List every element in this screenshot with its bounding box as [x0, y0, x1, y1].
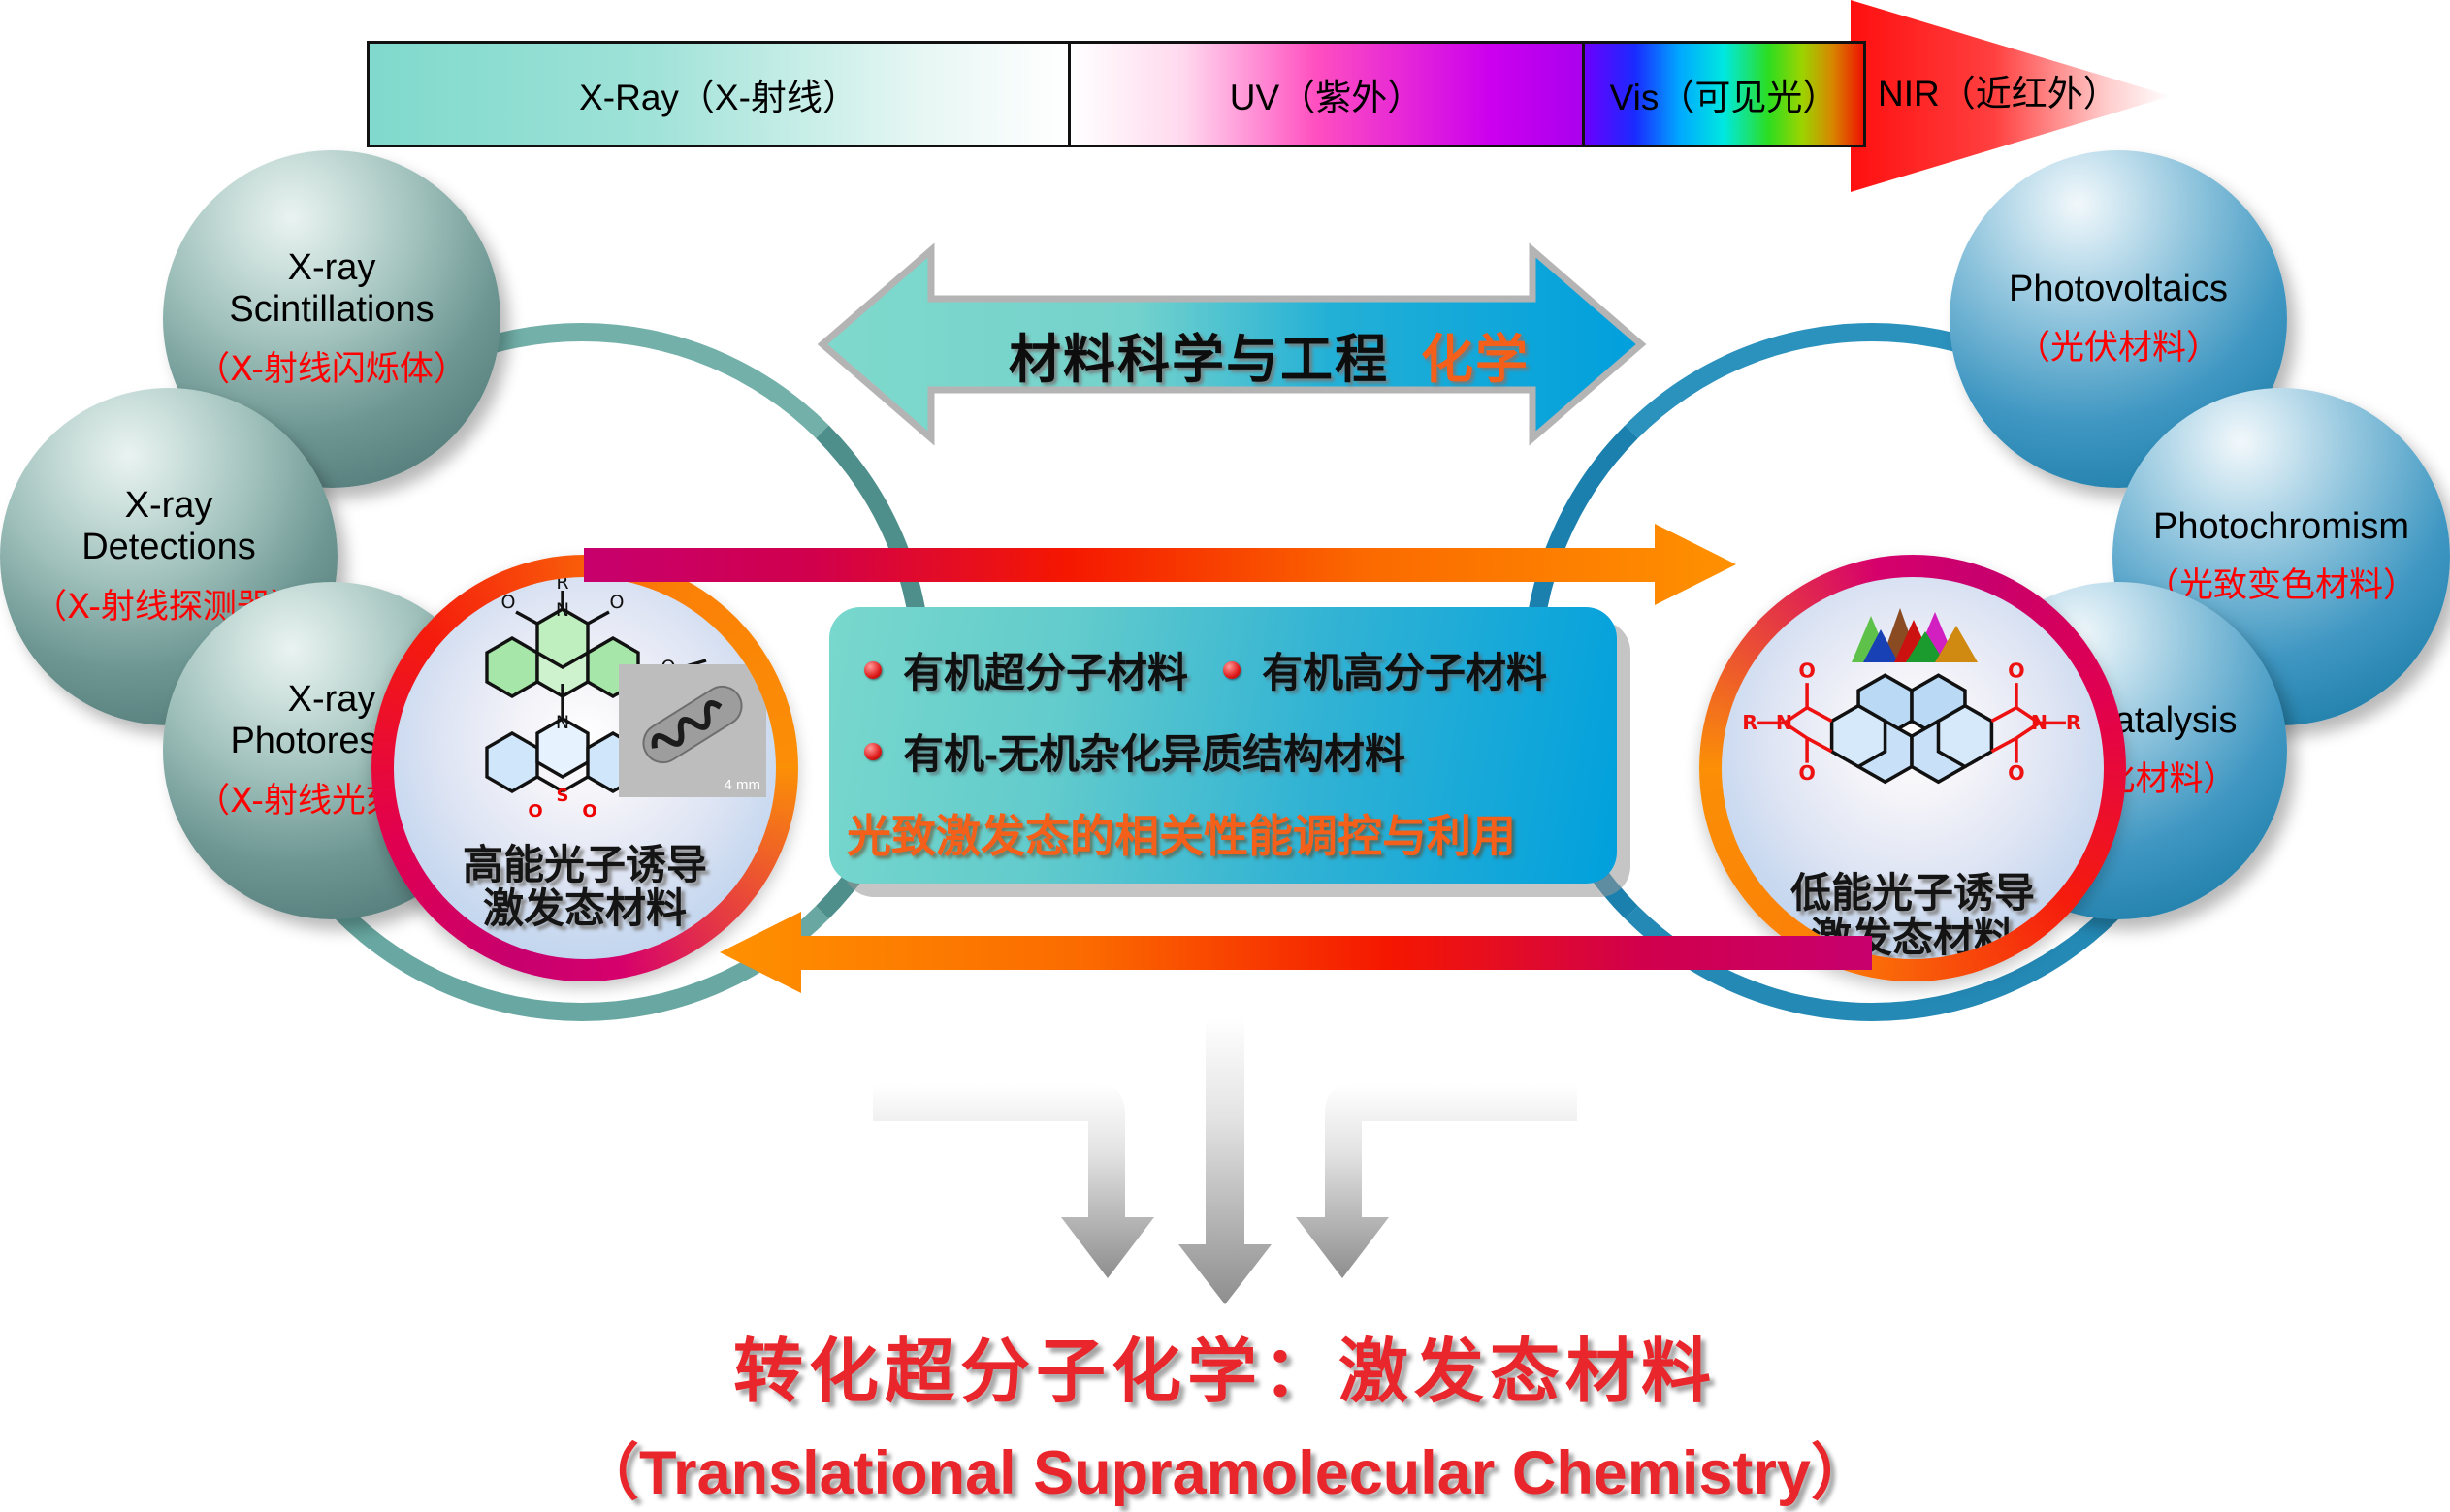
mol-label-O-sulfone-left: O	[528, 801, 542, 821]
node-label-en-line1: X-ray	[288, 247, 376, 289]
bottom-title-block: 转化超分子化学：激发态材料 （Translational Supramolecu…	[0, 1314, 2450, 1512]
spectrum-label-xray: X-Ray（X-射线）	[579, 68, 858, 120]
mol-label-N-top: N	[556, 599, 569, 621]
node-label-en-line2: Scintillations	[229, 289, 434, 331]
feature-caption-left-line1: 高能光子诱导	[463, 843, 707, 886]
mol-label-O-br: O	[2008, 761, 2025, 785]
spectrum-segment-vis: Vis（可见光）	[1582, 44, 1863, 145]
spectrum-bar: X-Ray（X-射线） UV（紫外） Vis（可见光）	[367, 41, 1866, 147]
mol-label-O-bl: O	[1798, 761, 1816, 785]
mol-label-O-left: O	[501, 592, 516, 613]
spectrum-label-nir: NIR（近红外）	[1878, 64, 2119, 116]
feature-high-energy-photon[interactable]: R N O O N O S O O 4 mm 高能光子	[371, 555, 798, 981]
inset-scale-label: 4 mm	[725, 777, 761, 793]
node-label-en-line1: X-ray	[125, 485, 213, 527]
mol-label-N-right: N	[2031, 711, 2047, 734]
bottom-title-en: （Translational Supramolecular Chemistry）	[0, 1424, 2450, 1512]
colored-powder-piles-icon	[1846, 587, 1991, 662]
perylene-diimide-molecule-icon: O O O O N N R R	[1722, 641, 2104, 879]
mol-label-R-left: R	[1742, 711, 1757, 734]
feature-inner-left: R N O O N O S O O 4 mm 高能光子	[394, 577, 776, 959]
capsule-photo-inset: 4 mm	[619, 664, 766, 797]
mol-label-O-sulfone-right: O	[582, 801, 596, 821]
node-label-cn: （光伏材料）	[2016, 320, 2220, 370]
feature-inner-right: O O O O N N R R 低能光子诱导 激发态材料	[1722, 577, 2104, 959]
mol-label-O-right: O	[610, 592, 625, 613]
spectrum-label-vis: Vis（可见光）	[1610, 68, 1839, 120]
feature-caption-right-line1: 低能光子诱导	[1790, 871, 2035, 915]
center-panel-highlight: 光致激发态的相关性能调控与利用	[847, 801, 1516, 865]
spectrum-segment-uv: UV（紫外）	[1068, 44, 1582, 145]
feature-caption-right-line2: 激发态材料	[1811, 916, 2015, 959]
center-materials-panel[interactable]: 有机超分子材料 有机高分子材料 有机-无机杂化异质结构材料 光致激发态的相关性能…	[829, 607, 1617, 884]
node-label-en-line2: Detections	[81, 527, 256, 568]
center-panel-item-3: 有机-无机杂化异质结构材料	[903, 722, 1405, 781]
mol-label-O-tr: O	[2008, 659, 2025, 682]
bottom-title-cn: 转化超分子化学：激发态材料	[0, 1314, 2450, 1416]
node-label-cn: （X-射线闪烁体）	[196, 341, 467, 391]
center-panel-item-2: 有机高分子材料	[1262, 640, 1547, 699]
mol-label-N-bottom: N	[556, 712, 569, 733]
mol-label-R: R	[556, 577, 568, 594]
node-label-en-line1: Photovoltaics	[2009, 269, 2228, 310]
mol-label-R-right: R	[2066, 711, 2081, 734]
bullet-icon	[864, 743, 882, 760]
mol-label-S: S	[557, 786, 569, 806]
center-panel-row-1: 有机超分子材料 有机高分子材料	[864, 640, 1547, 699]
mol-label-O-tl: O	[1798, 659, 1816, 682]
node-label-en-line1: X-ray	[288, 679, 376, 721]
mol-label-N-left: N	[1776, 711, 1792, 734]
double-headed-arrow: 材料科学与工程 化学	[815, 242, 1649, 446]
spectrum-label-uv: UV（紫外）	[1230, 68, 1423, 120]
center-panel-row-2: 有机-无机杂化异质结构材料	[864, 722, 1405, 781]
double-arrow-label-chemistry: 化学	[1421, 316, 1530, 393]
bullet-icon	[1223, 661, 1241, 679]
spectrum-segment-nir: NIR（近红外）	[1851, 0, 2268, 192]
double-arrow-label-materials: 材料科学与工程	[1009, 316, 1389, 393]
feature-low-energy-photon[interactable]: O O O O N N R R 低能光子诱导 激发态材料	[1699, 555, 2126, 981]
node-label-en-line1: Photochromism	[2153, 506, 2409, 548]
spectrum-segment-xray: X-Ray（X-射线）	[370, 44, 1068, 145]
feature-caption-left-line2: 激发态材料	[483, 886, 687, 930]
bullet-icon	[864, 661, 882, 679]
center-panel-item-1: 有机超分子材料	[903, 640, 1188, 699]
